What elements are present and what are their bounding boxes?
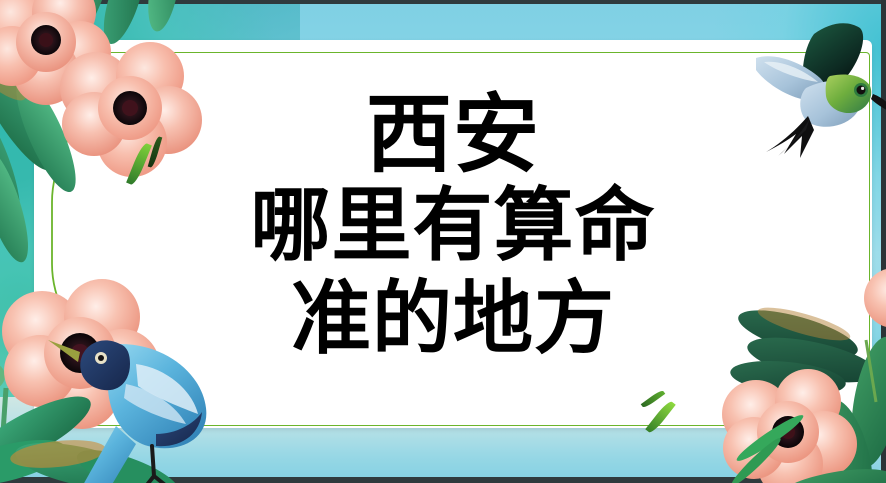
hummingbird	[744, 14, 886, 174]
anemone-flower-top-left	[0, 0, 274, 260]
blue-magpie-bird	[0, 248, 270, 483]
poster-canvas: 西安 哪里有算命 准的地方	[0, 0, 886, 483]
anemone-flower-bottom-right	[726, 292, 886, 483]
